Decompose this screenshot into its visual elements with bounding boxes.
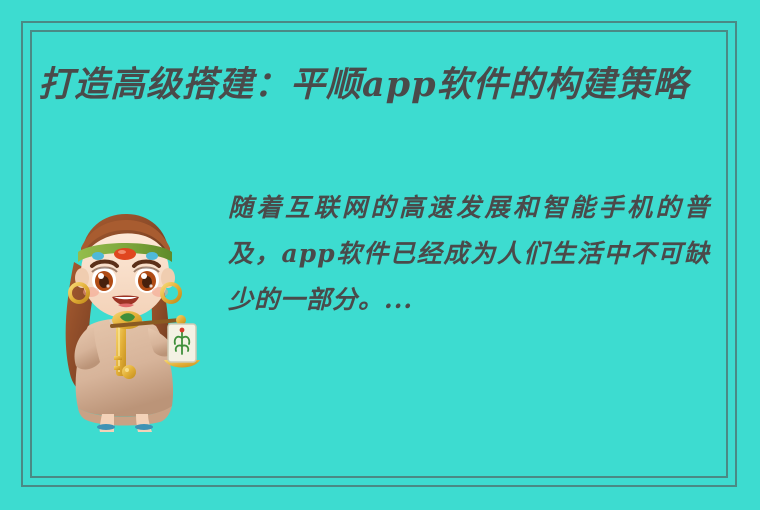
poster-canvas: 打造高级搭建：平顺app软件的构建策略 随着互联网的高速发展和智能手机的普及，a… [0, 0, 760, 510]
page-title: 打造高级搭建：平顺app软件的构建策略 [38, 62, 738, 108]
character-illustration [44, 196, 214, 432]
body-paragraph: 随着互联网的高速发展和智能手机的普及，app软件已经成为人们生活中不可缺少的一部… [228, 185, 710, 323]
